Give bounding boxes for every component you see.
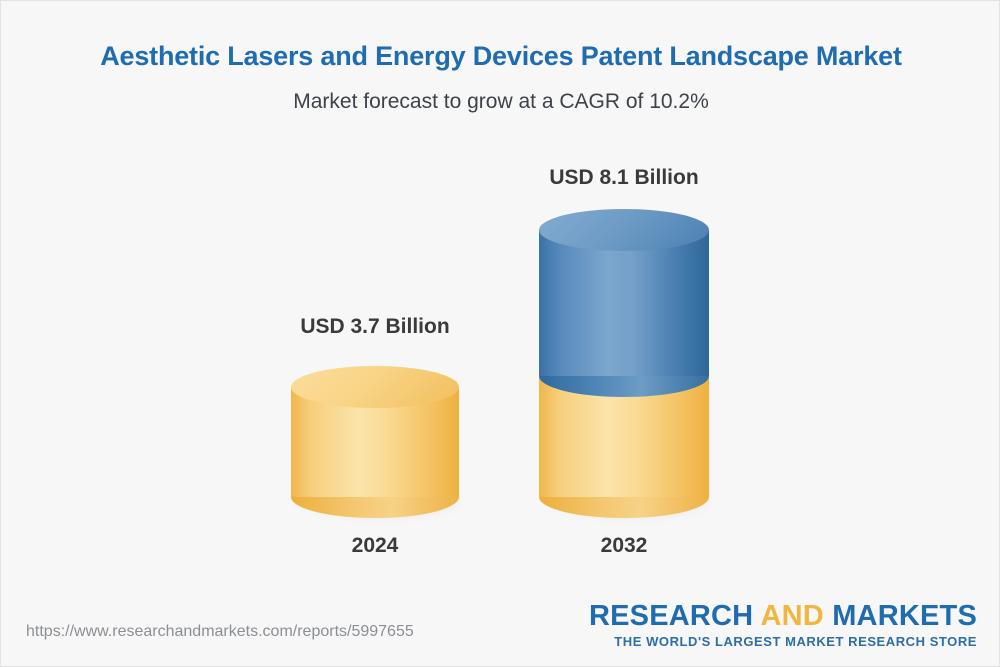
cylinder-upper-body-overlay-2032 — [539, 230, 709, 376]
bar-category-label-2024: 2024 — [291, 534, 459, 558]
logo-tagline: THE WORLD'S LARGEST MARKET RESEARCH STOR… — [589, 634, 977, 649]
cylinder-top-cap-2032 — [539, 209, 709, 251]
logo-word-research: RESEARCH — [589, 600, 753, 632]
plot-area: USD 3.7 Billion 2024 USD 8.1 Billion — [1, 1, 1000, 601]
logo-word-markets: MARKETS — [832, 600, 977, 632]
chart-canvas: Aesthetic Lasers and Energy Devices Pate… — [0, 0, 1000, 667]
bar-category-label-2032: 2032 — [539, 534, 709, 558]
logo-word-and: AND — [761, 600, 824, 632]
cylinder-2024 — [291, 151, 459, 571]
brand-logo[interactable]: RESEARCH AND MARKETS THE WORLD'S LARGEST… — [589, 601, 977, 649]
logo-wordmark: RESEARCH AND MARKETS — [589, 601, 977, 631]
cylinder-2032 — [539, 151, 709, 571]
cylinder-top-cap-2024 — [291, 366, 459, 408]
bar-group-2032: USD 8.1 Billion 2032 — [539, 151, 709, 571]
bar-group-2024: USD 3.7 Billion 2024 — [291, 151, 459, 571]
report-url[interactable]: https://www.researchandmarkets.com/repor… — [26, 623, 414, 641]
